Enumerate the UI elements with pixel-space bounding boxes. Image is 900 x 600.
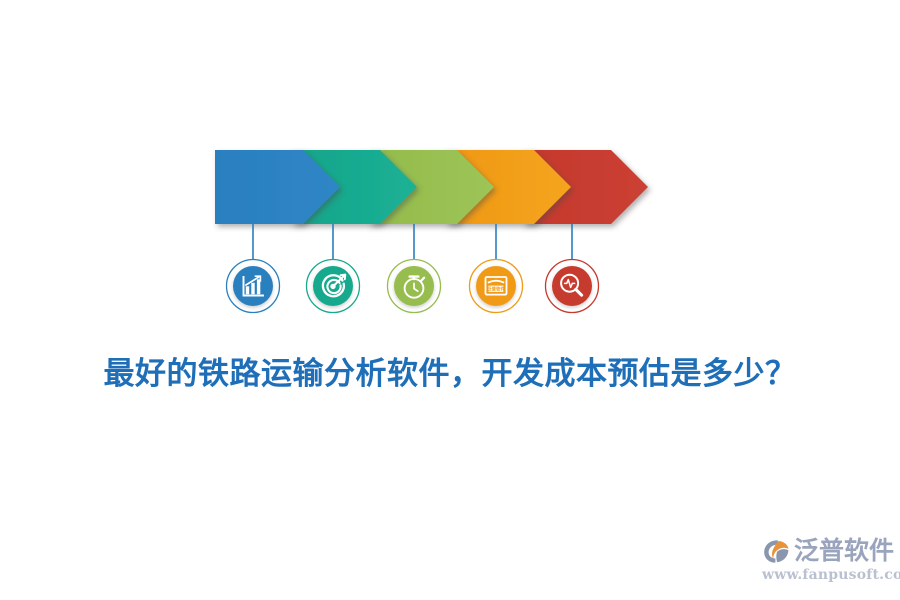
presentation-board-text: 泛普软件 (487, 286, 505, 293)
step-badge-3[interactable] (388, 260, 441, 313)
chevron-band (215, 150, 648, 224)
connector-lines (253, 224, 572, 259)
fanpu-logo-mark (762, 536, 792, 566)
brand-name: 泛普软件 (794, 536, 894, 566)
step-badge-2[interactable] (307, 260, 360, 313)
step-badge-1[interactable] (227, 260, 280, 313)
brand-logo-row: 泛普软件 (762, 534, 892, 568)
step-badge-5[interactable] (546, 260, 599, 313)
page-title: 最好的铁路运输分析软件，开发成本预估是多少？ (0, 352, 900, 396)
brand-url: www.fanpusoft.com (762, 567, 892, 583)
page-canvas: 泛普软件 最好的铁路运输分析软件，开发成本预估是多少？ 泛普软件 (0, 0, 900, 600)
brand-logo[interactable]: 泛普软件 www.fanpusoft.com (762, 534, 892, 588)
step-badge-4[interactable]: 泛普软件 (470, 260, 523, 313)
process-infographic: 泛普软件 (0, 0, 900, 340)
